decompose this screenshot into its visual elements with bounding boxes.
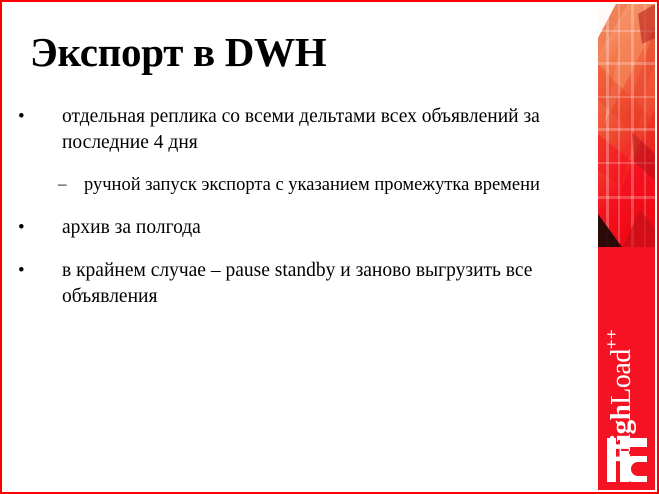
- highload-logo-block: HighLoad++: [598, 247, 655, 490]
- wordmark-plusplus: ++: [602, 329, 622, 349]
- bullet-list: • отдельная реплика со всеми дельтами вс…: [2, 104, 594, 327]
- page-title: Экспорт в DWH: [30, 28, 326, 76]
- list-item-text: в крайнем случае – pause standby и занов…: [62, 258, 594, 310]
- right-rail: HighLoad++: [598, 4, 655, 490]
- wordmark-load: Load: [606, 349, 638, 405]
- list-item-text: отдельная реплика со всеми дельтами всех…: [62, 104, 594, 156]
- highload-wordmark: HighLoad++: [605, 247, 649, 464]
- list-item: • отдельная реплика со всеми дельтами вс…: [2, 104, 594, 156]
- list-item: • архив за полгода: [2, 215, 594, 241]
- bullet-marker-icon: •: [18, 215, 62, 237]
- sub-bullet-marker-icon: –: [58, 173, 84, 192]
- bullet-marker-icon: •: [18, 104, 62, 126]
- highload-bars-icon: [607, 434, 647, 482]
- list-item-text: ручной запуск экспорта с указанием проме…: [84, 173, 594, 197]
- list-item: – ручной запуск экспорта с указанием про…: [2, 173, 594, 197]
- list-item-text: архив за полгода: [62, 215, 594, 241]
- abstract-geometric-artwork: [598, 4, 655, 247]
- bullet-marker-icon: •: [18, 258, 62, 280]
- presentation-slide: Экспорт в DWH • отдельная реплика со все…: [0, 0, 659, 494]
- list-item: • в крайнем случае – pause standby и зан…: [2, 258, 594, 310]
